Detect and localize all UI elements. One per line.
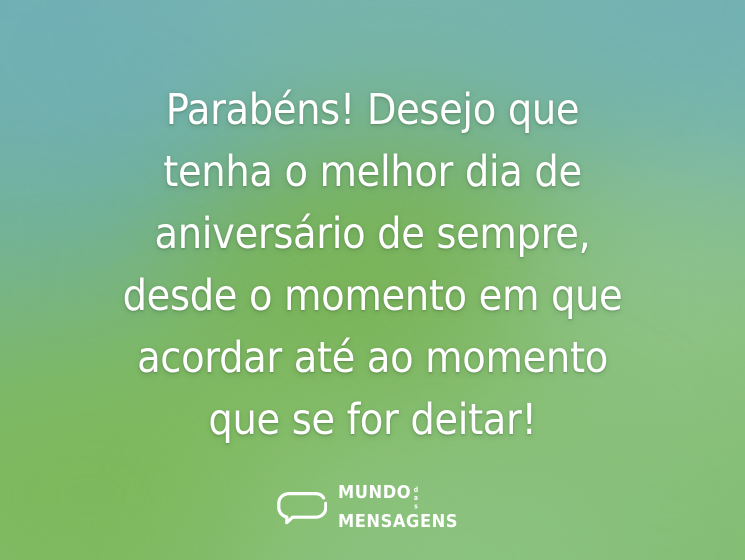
brand-logo-text: MUNDO das MENSAGENS [338, 485, 467, 531]
card-content: Parabéns! Desejo que tenha o melhor dia … [0, 0, 745, 560]
brand-name-mundo: MUNDO [338, 485, 411, 503]
brand-name-mensagens: MENSAGENS [338, 514, 458, 532]
brand-name-das: das [413, 486, 419, 511]
speech-bubble-icon [277, 492, 327, 525]
brand-logo: MUNDO das MENSAGENS [0, 485, 745, 531]
brand-logo-line-1: MUNDO das [338, 485, 458, 510]
message-card: Parabéns! Desejo que tenha o melhor dia … [0, 0, 745, 560]
message-text: Parabéns! Desejo que tenha o melhor dia … [39, 0, 706, 451]
